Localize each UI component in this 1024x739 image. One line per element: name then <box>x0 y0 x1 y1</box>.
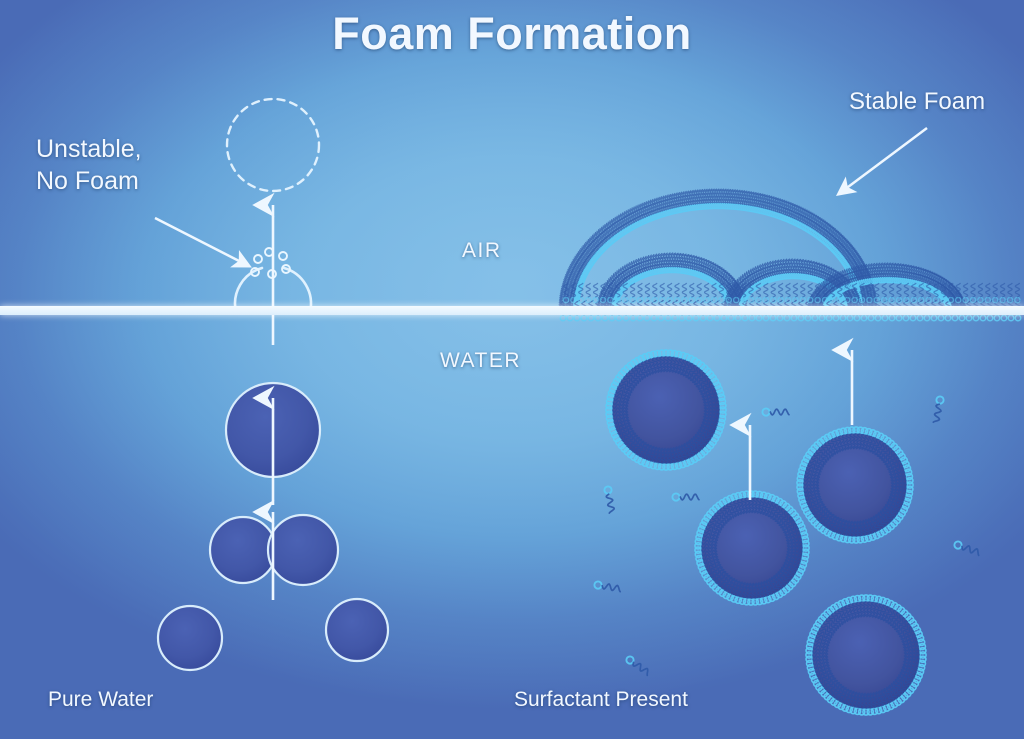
merging-bubble-right <box>268 515 338 585</box>
surfactant-head <box>799 467 805 473</box>
small-bubble-left <box>158 606 222 670</box>
surfactant-head <box>924 315 930 321</box>
surfactant-head <box>861 315 867 321</box>
surfactant-tail <box>986 283 990 297</box>
surfactant-tail <box>653 283 657 297</box>
surfactant-head <box>840 315 846 321</box>
surfactant-tail <box>602 584 620 592</box>
surfactant-tail <box>631 283 635 297</box>
small-bubble-right <box>326 599 388 661</box>
surfactant-head <box>665 315 671 321</box>
surfactant-head <box>700 315 706 321</box>
surfactant-head <box>833 315 839 321</box>
surfactant-head <box>812 315 818 321</box>
surfactant-tail <box>633 662 648 675</box>
surfactant-head <box>742 315 748 321</box>
surfactant-head <box>623 315 629 321</box>
surfactant-head <box>593 297 598 302</box>
surfactant-head <box>644 315 650 321</box>
surfactant-tail <box>594 283 598 297</box>
surfactant-tail <box>964 283 968 297</box>
surfactant-tail <box>682 283 686 297</box>
surfactant-tail <box>675 283 679 297</box>
surfactant-head <box>588 315 594 321</box>
surfactant-tail <box>978 283 982 297</box>
surfactant-tail <box>690 283 694 297</box>
surfactant-head <box>777 315 783 321</box>
surfactant-head <box>798 315 804 321</box>
surfactant-head <box>672 493 679 500</box>
surfactant-tail <box>660 283 664 297</box>
surfactant-tail <box>638 283 642 297</box>
surfactant-head <box>1015 315 1021 321</box>
surfactant-head <box>938 315 944 321</box>
water-phase-label: WATER <box>440 349 521 373</box>
surfactant-head <box>994 315 1000 321</box>
surfactant-tail <box>1015 283 1019 297</box>
unstable-no-foam-label: Unstable,No Foam <box>36 133 142 197</box>
surfactant-bubble-group <box>606 350 926 715</box>
surfactant-tail <box>890 283 894 297</box>
surfactant-head <box>658 315 664 321</box>
surfactant-tail <box>786 283 790 297</box>
surfactant-tail <box>882 283 886 297</box>
pure-water-bubble-group <box>158 99 388 670</box>
surfactant-head <box>735 315 741 321</box>
surfactant-head <box>973 315 979 321</box>
surfactant-head <box>791 315 797 321</box>
surfactant-head <box>728 315 734 321</box>
surfactant-head <box>756 315 762 321</box>
surfactant-tail <box>801 283 805 297</box>
surfactant-head <box>917 315 923 321</box>
surfactant-head <box>907 478 913 484</box>
surfactant-head <box>630 315 636 321</box>
surfactant-tail <box>793 283 797 297</box>
surfactant-head <box>672 315 678 321</box>
surfactant-tail <box>1001 283 1005 297</box>
surfactant-tail <box>993 283 997 297</box>
unstable-label-line1: Unstable, <box>36 135 142 163</box>
surfactant-tail <box>933 404 941 422</box>
surfactant-head <box>803 541 809 547</box>
bubble-core <box>812 601 920 709</box>
surfactant-tail <box>645 283 649 297</box>
surfactant-head <box>637 315 643 321</box>
surfactant-head <box>616 315 622 321</box>
surfactant-head <box>784 315 790 321</box>
surfactant-head <box>826 315 832 321</box>
surfactant-head <box>889 315 895 321</box>
surfactant-tail <box>779 283 783 297</box>
surfactant-tail <box>771 283 775 297</box>
surfactant-tail <box>904 283 908 297</box>
surfactant-head <box>945 315 951 321</box>
surfactant-head <box>847 315 853 321</box>
surfactant-head <box>581 315 587 321</box>
surfactant-head <box>993 297 998 302</box>
surfactant-head <box>693 315 699 321</box>
surfactant-head <box>762 408 769 415</box>
surfactant-head <box>931 315 937 321</box>
merging-bubble-left <box>210 517 276 583</box>
surfactant-head <box>567 315 573 321</box>
surfactant-head <box>686 315 692 321</box>
surfactant-head <box>626 656 633 663</box>
callout-arrows <box>155 128 927 263</box>
burst-droplet-3 <box>279 252 287 260</box>
surfactant-head <box>966 315 972 321</box>
surfactant-head <box>987 315 993 321</box>
surfactant-head <box>1008 315 1014 321</box>
surfactant-head <box>667 297 672 302</box>
surfactant-tail <box>668 283 672 297</box>
surfactant-head <box>719 297 724 302</box>
unstable-callout-arrow <box>155 218 243 263</box>
surfactant-tail <box>808 283 812 297</box>
surfactant-head <box>926 297 931 302</box>
surfactant-head <box>819 315 825 321</box>
surfactant-head <box>910 315 916 321</box>
surfactant-head <box>1000 297 1005 302</box>
coated-bubble-bottom <box>806 595 926 715</box>
figure-canvas: Foam Formation Unstable,No Foam Stable F… <box>0 0 1024 739</box>
air-phase-label: AIR <box>462 239 502 263</box>
pure-water-caption: Pure Water <box>48 688 153 712</box>
coated-bubble-upper-left <box>606 350 726 470</box>
surfactant-head <box>574 315 580 321</box>
surfactant-present-caption: Surfactant Present <box>514 688 688 712</box>
surfactant-tail <box>971 283 975 297</box>
surfactant-head <box>721 315 727 321</box>
surfactant-tail <box>1008 283 1012 297</box>
surfactant-head <box>952 315 958 321</box>
popped-bubble-outline <box>227 99 319 191</box>
surfactant-head <box>602 315 608 321</box>
surfactant-tail <box>606 494 614 513</box>
coated-bubble-center <box>695 491 809 605</box>
surfactant-head <box>985 297 990 302</box>
surfactant-head <box>763 315 769 321</box>
figure-title: Foam Formation <box>0 8 1024 60</box>
surfactant-head <box>854 315 860 321</box>
surfactant-head <box>920 648 926 654</box>
surfactant-head <box>959 315 965 321</box>
surfactant-head <box>936 396 943 403</box>
surfactant-head <box>595 315 601 321</box>
stable-foam-callout-arrow <box>844 128 927 190</box>
surfactant-head <box>594 581 601 588</box>
surfactant-head <box>604 486 611 493</box>
surfactant-tail <box>897 283 901 297</box>
surfactant-head <box>875 315 881 321</box>
unstable-label-line2: No Foam <box>36 167 139 195</box>
surfactant-head <box>903 315 909 321</box>
surfactant-tail <box>705 283 709 297</box>
surfactant-head <box>714 315 720 321</box>
surfactant-head <box>954 541 961 548</box>
surfactant-head <box>882 315 888 321</box>
surfactant-head <box>793 297 798 302</box>
surfactant-tail <box>680 494 699 500</box>
surfactant-head <box>749 315 755 321</box>
surfactant-head <box>609 315 615 321</box>
stable-foam-label: Stable Foam <box>849 88 985 116</box>
surfactant-head <box>770 315 776 321</box>
surfactant-tail <box>770 409 789 415</box>
surfactant-head <box>707 315 713 321</box>
coated-bubble-right <box>797 427 913 543</box>
surfactant-head <box>720 403 726 409</box>
surfactant-tail <box>697 283 701 297</box>
surfactant-head <box>805 315 811 321</box>
surfactant-head <box>560 315 566 321</box>
surfactant-head <box>868 315 874 321</box>
bubble-core <box>612 356 720 464</box>
surfactant-head <box>689 297 694 302</box>
surfactant-tail <box>586 283 590 297</box>
surfactant-head <box>679 315 685 321</box>
surfactant-tail <box>764 283 768 297</box>
surfactant-head <box>651 315 657 321</box>
surfactant-head <box>896 315 902 321</box>
surfactant-head <box>1001 315 1007 321</box>
surfactant-head <box>978 297 983 302</box>
surfactant-head <box>980 315 986 321</box>
surfactant-head <box>697 297 702 302</box>
air-water-interface-line <box>0 306 1024 315</box>
surfactant-tail <box>962 546 979 556</box>
burst-droplet-1 <box>254 255 262 263</box>
